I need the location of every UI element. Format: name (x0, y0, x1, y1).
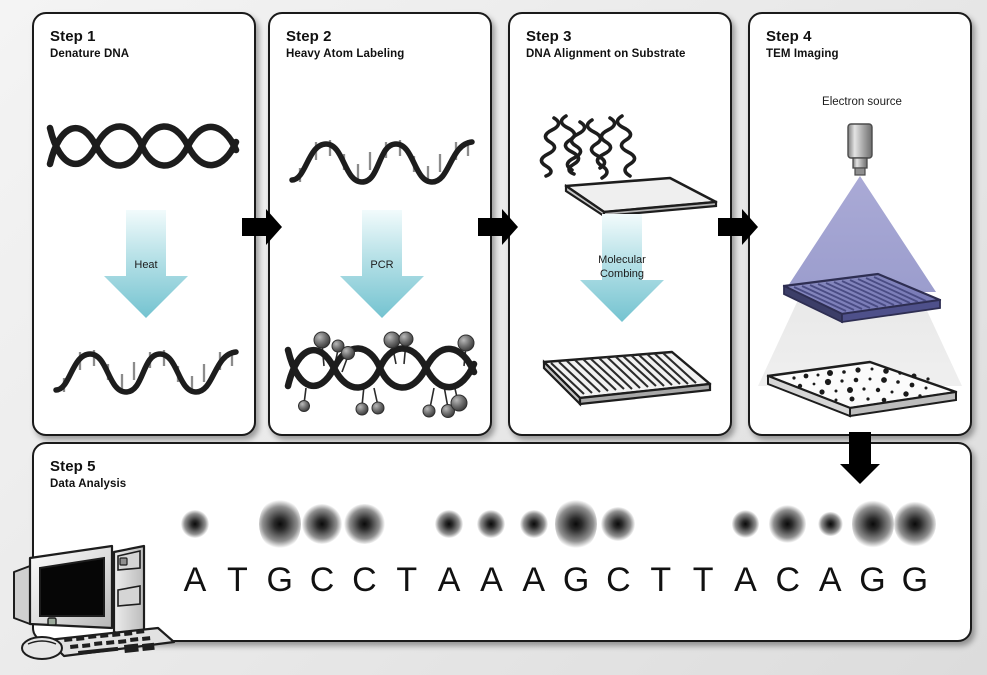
signal-blob-cell (386, 496, 428, 552)
step-2-title: Heavy Atom Labeling (286, 48, 404, 60)
sequence-base: G (555, 561, 597, 600)
step-1-title: Denature DNA (50, 48, 129, 60)
step-3-process-arrow (572, 214, 672, 324)
sequence-base: A (724, 561, 766, 600)
dna-single-strand-icon (282, 126, 482, 202)
electron-source-label: Electron source (750, 96, 972, 108)
step-1-process-arrow (96, 210, 196, 320)
sequence-base: A (809, 561, 851, 600)
tem-signal-blob-row (174, 496, 936, 552)
connector-arrow-2 (476, 207, 520, 247)
panel-step-2: Step 2 Heavy Atom Labeling PC (268, 12, 492, 436)
signal-blob (302, 504, 342, 544)
signal-blob (601, 507, 635, 541)
connector-arrow-4 (838, 430, 882, 486)
signal-blob-cell (597, 496, 639, 552)
step-5-number: Step 5 (50, 458, 96, 475)
signal-blob-cell (682, 496, 724, 552)
signal-blob (520, 510, 548, 538)
signal-blob-cell (259, 496, 301, 552)
step-2-number: Step 2 (286, 28, 332, 45)
step-4-title: TEM Imaging (766, 48, 839, 60)
signal-blob-cell (767, 496, 809, 552)
dna-single-strand-icon (46, 336, 246, 412)
connector-arrow-3 (716, 207, 760, 247)
signal-blob-cell (894, 496, 936, 552)
step-4-number: Step 4 (766, 28, 812, 45)
sequence-base: A (513, 561, 555, 600)
signal-blob (818, 512, 843, 537)
sequence-base: C (597, 561, 639, 600)
figure-canvas: Step 1 Denature DNA (0, 0, 987, 675)
sequence-base: C (767, 561, 809, 600)
step-3-title: DNA Alignment on Substrate (526, 48, 686, 60)
sequence-base: T (682, 561, 724, 600)
dna-double-helix-icon (46, 106, 246, 186)
sequence-base: T (216, 561, 258, 600)
sequence-base: G (259, 561, 301, 600)
sequence-base: A (428, 561, 470, 600)
signal-blob (769, 505, 806, 542)
combed-substrate-icon (524, 344, 724, 422)
signal-blob (732, 510, 760, 538)
signal-blob-cell (724, 496, 766, 552)
signal-blob-cell (301, 496, 343, 552)
sequence-base: A (470, 561, 512, 600)
substrate-plate-icon (518, 106, 726, 216)
connector-arrow-1 (240, 207, 284, 247)
signal-blob (852, 499, 894, 549)
step-1-number: Step 1 (50, 28, 96, 45)
sequence-base: T (386, 561, 428, 600)
signal-blob-cell (428, 496, 470, 552)
signal-blob (259, 498, 301, 551)
signal-blob-cell (640, 496, 682, 552)
step-5-title: Data Analysis (50, 478, 126, 490)
sequence-base: T (640, 561, 682, 600)
sequence-base: G (894, 561, 936, 600)
signal-blob-cell (216, 496, 258, 552)
signal-blob-cell (809, 496, 851, 552)
desktop-computer-icon (8, 528, 190, 668)
signal-blob-cell (513, 496, 555, 552)
signal-blob (435, 510, 463, 538)
panel-step-3: Step 3 DNA Alignment on Substrate (508, 12, 732, 436)
tem-column-illustration (750, 114, 972, 414)
signal-blob-cell (852, 496, 894, 552)
signal-blob-cell (555, 496, 597, 552)
step-3-number: Step 3 (526, 28, 572, 45)
signal-blob (344, 504, 384, 544)
panel-step-4: Step 4 TEM Imaging Electron source (748, 12, 972, 436)
dna-sequence-row: ATGCCTAAAGCTTACAGG (174, 552, 936, 600)
panel-step-1: Step 1 Denature DNA (32, 12, 256, 436)
signal-blob (894, 501, 936, 548)
sequence-base: C (343, 561, 385, 600)
signal-blob-cell (470, 496, 512, 552)
signal-blob (555, 498, 597, 551)
sequence-base: G (852, 561, 894, 600)
signal-blob (477, 510, 505, 538)
sequence-base: C (301, 561, 343, 600)
signal-blob-cell (343, 496, 385, 552)
dna-labeled-helix-icon (278, 326, 486, 426)
step-2-process-arrow (332, 210, 432, 320)
